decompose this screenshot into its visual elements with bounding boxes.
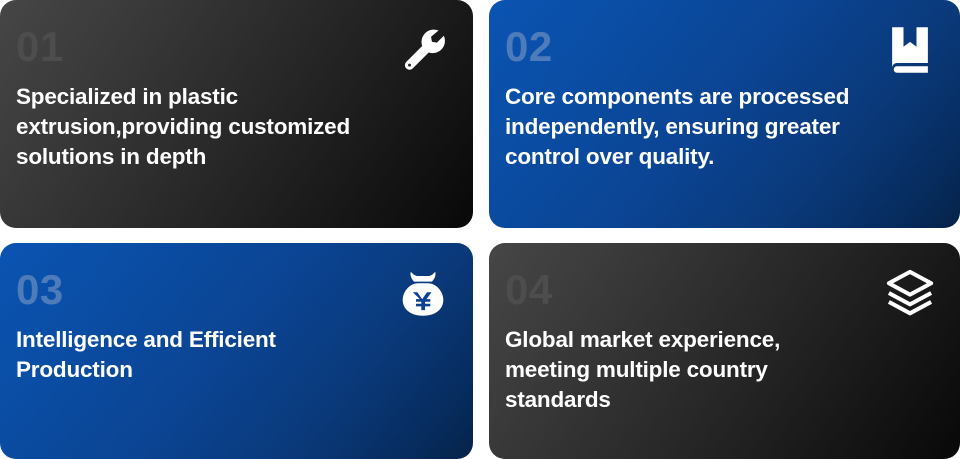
card-number: 03	[16, 269, 451, 311]
card-title: Intelligence and Efficient Production	[16, 325, 446, 385]
feature-card-grid: 01 Specialized in plastic extrusion,prov…	[0, 0, 960, 459]
card-number: 02	[505, 26, 938, 68]
feature-card-04[interactable]: 04 Global market experience, meeting mul…	[489, 243, 960, 459]
feature-card-01[interactable]: 01 Specialized in plastic extrusion,prov…	[0, 0, 473, 228]
card-title: Global market experience, meeting multip…	[505, 325, 935, 415]
card-title: Core components are processed independen…	[505, 82, 935, 172]
feature-card-03[interactable]: 03 Intelligence and Efficient Production	[0, 243, 473, 459]
feature-card-02[interactable]: 02 Core components are processed indepen…	[489, 0, 960, 228]
card-number: 01	[16, 26, 451, 68]
card-number: 04	[505, 269, 938, 311]
card-title: Specialized in plastic extrusion,providi…	[16, 82, 446, 172]
